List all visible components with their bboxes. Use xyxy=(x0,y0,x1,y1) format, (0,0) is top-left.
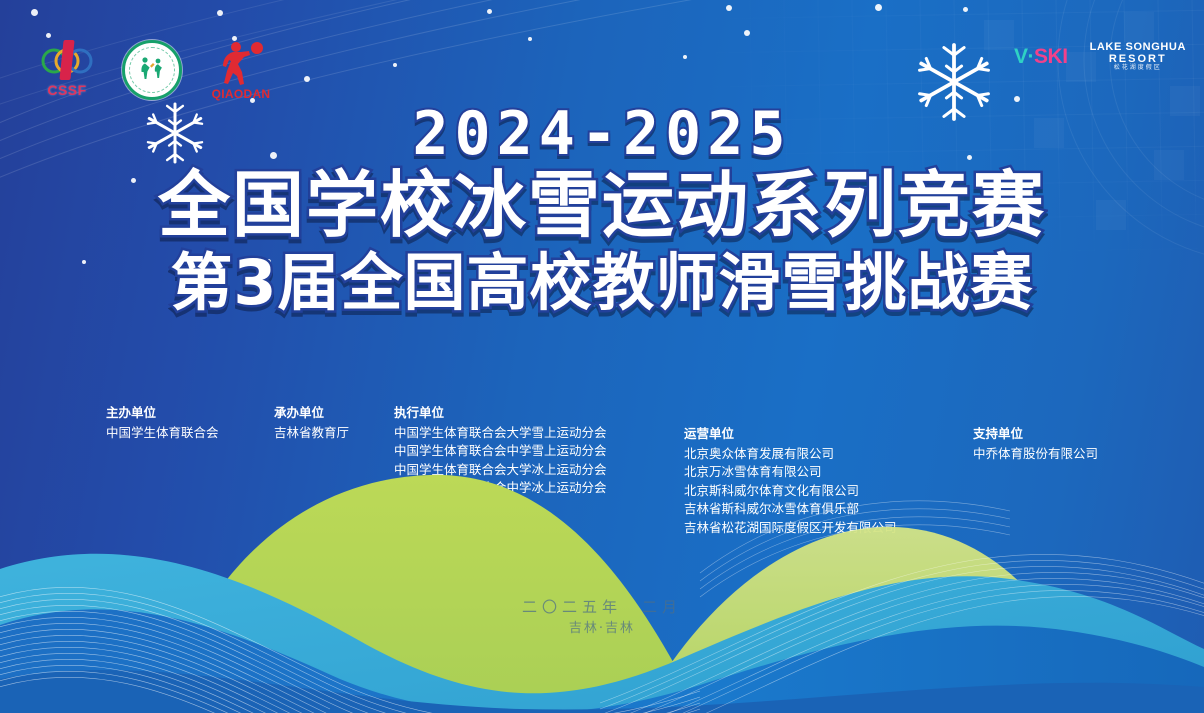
lake-line1-label: LAKE SONGHUA xyxy=(1090,42,1186,54)
credit-column-organizer: 承办单位 吉林省教育厅 xyxy=(274,404,349,442)
title-block: 2024-2025 全国学校冰雪运动系列竞赛 第3届全国高校教师滑雪挑战赛 xyxy=(0,104,1204,315)
snow-dot xyxy=(217,10,223,16)
vski-v-label: V· xyxy=(1014,45,1034,68)
qiaodan-label: QIAODAN xyxy=(208,87,274,101)
snow-dot xyxy=(1014,96,1020,102)
sponsor-logos-left: CSSF xyxy=(38,40,274,101)
series-title: 全国学校冰雪运动系列竞赛 xyxy=(0,168,1204,244)
credit-header: 主办单位 xyxy=(106,404,219,423)
vski-logo: V·SKI xyxy=(1014,46,1068,67)
event-title: 第3届全国高校教师滑雪挑战赛 xyxy=(0,250,1204,315)
poster-canvas: CSSF xyxy=(0,0,1204,713)
credit-header: 执行单位 xyxy=(394,404,607,423)
snow-dot xyxy=(528,37,532,41)
snow-dot xyxy=(875,4,882,11)
lake-line3-label: 松花湖度假区 xyxy=(1090,65,1186,71)
cssf-logo: CSSF xyxy=(38,40,96,98)
snow-dot xyxy=(46,33,51,38)
credit-column-host: 主办单位 中国学生体育联合会 xyxy=(106,404,219,442)
lake-line2-label: RESORT xyxy=(1090,54,1186,66)
credit-header: 运营单位 xyxy=(684,425,897,444)
snow-dot xyxy=(31,9,38,16)
wave-graphics xyxy=(0,453,1204,713)
athlete-figures-icon xyxy=(135,53,169,87)
date-location-block: 二〇二五年 二月 吉林·吉林 xyxy=(0,596,1204,640)
lake-songhua-resort-logo: LAKE SONGHUA RESORT 松花湖度假区 xyxy=(1090,42,1186,71)
credit-value: 吉林省教育厅 xyxy=(274,424,349,443)
snow-dot xyxy=(393,63,397,67)
snow-dot xyxy=(487,9,492,14)
credit-header: 支持单位 xyxy=(973,425,1098,444)
cssf-label: CSSF xyxy=(38,82,96,98)
credit-header: 承办单位 xyxy=(274,404,349,423)
location-label: 吉林·吉林 xyxy=(0,618,1204,640)
snow-dot xyxy=(683,55,687,59)
credit-value: 中国学生体育联合会 xyxy=(106,424,219,443)
date-label: 二〇二五年 二月 xyxy=(0,596,1204,618)
credit-value: 中国学生体育联合会大学雪上运动分会 xyxy=(394,424,607,443)
qiaodan-figure-icon xyxy=(208,40,274,88)
student-federation-emblem-icon xyxy=(122,40,182,100)
snow-dot xyxy=(744,30,750,36)
basketball-player-icon xyxy=(213,40,269,88)
vski-ski-label: SKI xyxy=(1034,45,1068,68)
snow-dot xyxy=(304,76,310,82)
snow-dot xyxy=(726,5,732,11)
year-range-title: 2024-2025 xyxy=(0,104,1204,164)
qiaodan-logo: QIAODAN xyxy=(208,40,274,101)
sponsor-logos-right: V·SKI LAKE SONGHUA RESORT 松花湖度假区 xyxy=(1014,42,1186,71)
snow-dot xyxy=(963,7,968,12)
cssf-mark-icon xyxy=(38,40,96,84)
